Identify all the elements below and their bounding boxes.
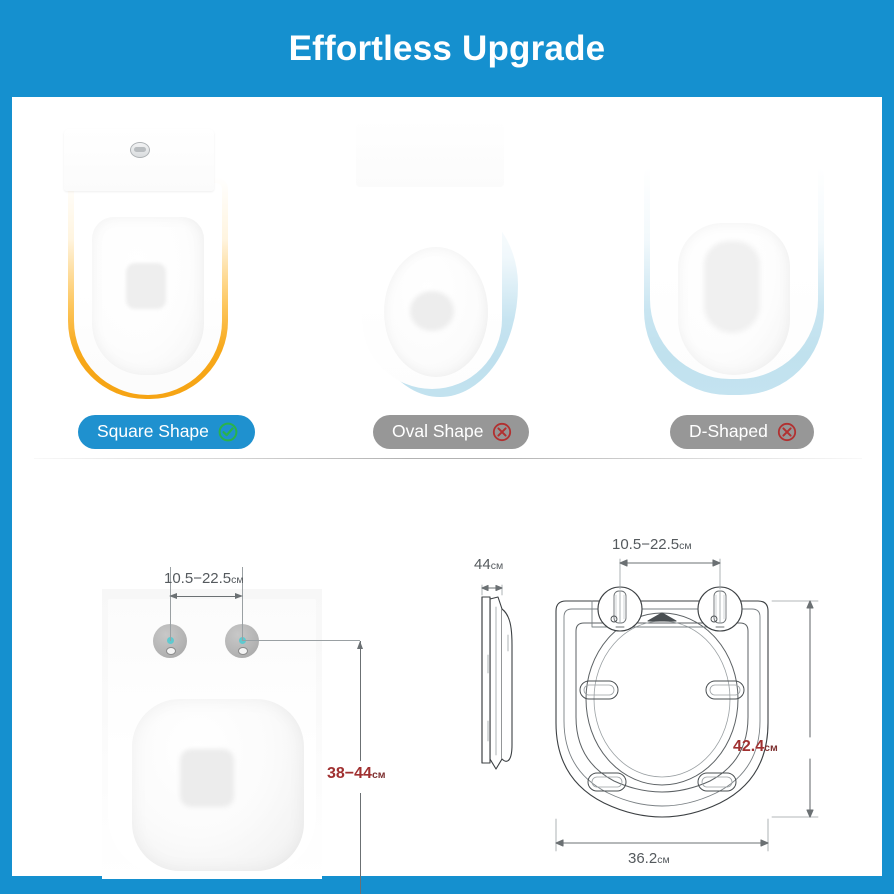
left-length-label: 38−44см (327, 766, 386, 782)
square-toilet-photo (42, 111, 272, 401)
right-hinge-spacing-label: 10.5−22.5см (612, 537, 692, 552)
badge-d-shaped[interactable]: D-Shaped (670, 415, 814, 449)
side-height-dimension (482, 585, 502, 595)
seat-width-dimension (556, 819, 768, 851)
left-toilet-bowl-inner (180, 749, 234, 807)
seat-plan-view (556, 587, 768, 817)
shape-comparison-row: Square Shape (12, 97, 882, 449)
left-length-dim-line-upper (360, 641, 361, 761)
content-card: Square Shape (12, 97, 882, 876)
page-root: Effortless Upgrade Square Shape (0, 0, 894, 894)
x-circle-icon (492, 422, 512, 442)
comparison-item-d-shaped: D-Shaped (592, 97, 882, 449)
seat-side-profile (482, 597, 512, 769)
hinge-assembly-right (698, 587, 742, 631)
badge-oval-shape-label: Oval Shape (392, 423, 483, 441)
badge-square-shape[interactable]: Square Shape (78, 415, 255, 449)
square-toilet-tank (64, 129, 214, 191)
x-circle-icon (777, 422, 797, 442)
left-hinge-spacing-arrow-start (169, 593, 177, 599)
comparison-item-square: Square Shape (12, 97, 302, 449)
side-height-label: 44см (474, 557, 503, 572)
comparison-item-oval: Oval Shape (302, 97, 592, 449)
square-toilet-bowl-inner (126, 263, 166, 309)
left-hinge-spacing-line (172, 596, 240, 597)
left-hinge-spacing-arrow-end (235, 593, 243, 599)
hinge-spacing-dimension (620, 559, 720, 589)
left-hinge-spacing-label: 10.5−22.5см (164, 571, 244, 586)
check-circle-icon (218, 422, 238, 442)
dimension-diagrams: 10.5−22.5см 38−44см 36.2см (12, 459, 882, 876)
left-length-arrow-top (357, 641, 363, 649)
header-banner: Effortless Upgrade (0, 0, 894, 97)
badge-square-shape-label: Square Shape (97, 423, 209, 441)
oval-toilet-bowl-inner (410, 291, 454, 331)
right-technical-drawing: 44см 10.5−22.5см 42.4см 36.2см (452, 459, 882, 876)
left-length-top-leader (242, 640, 360, 641)
d-shaped-toilet-photo (622, 111, 852, 401)
d-shaped-toilet-bowl-inner (704, 241, 760, 333)
oval-toilet-tank (356, 119, 504, 187)
flush-button-icon (130, 142, 150, 158)
right-width-label: 36.2см (628, 851, 670, 866)
right-length-label: 42.4см (733, 739, 778, 755)
hinge-assembly-left (598, 587, 642, 631)
oval-toilet-photo (332, 111, 562, 401)
badge-oval-shape[interactable]: Oval Shape (373, 415, 529, 449)
seat-technical-svg (452, 459, 882, 876)
page-title: Effortless Upgrade (289, 31, 606, 66)
seat-length-dimension (772, 601, 818, 817)
badge-d-shaped-label: D-Shaped (689, 423, 768, 441)
left-length-dim-line-lower (360, 793, 361, 894)
